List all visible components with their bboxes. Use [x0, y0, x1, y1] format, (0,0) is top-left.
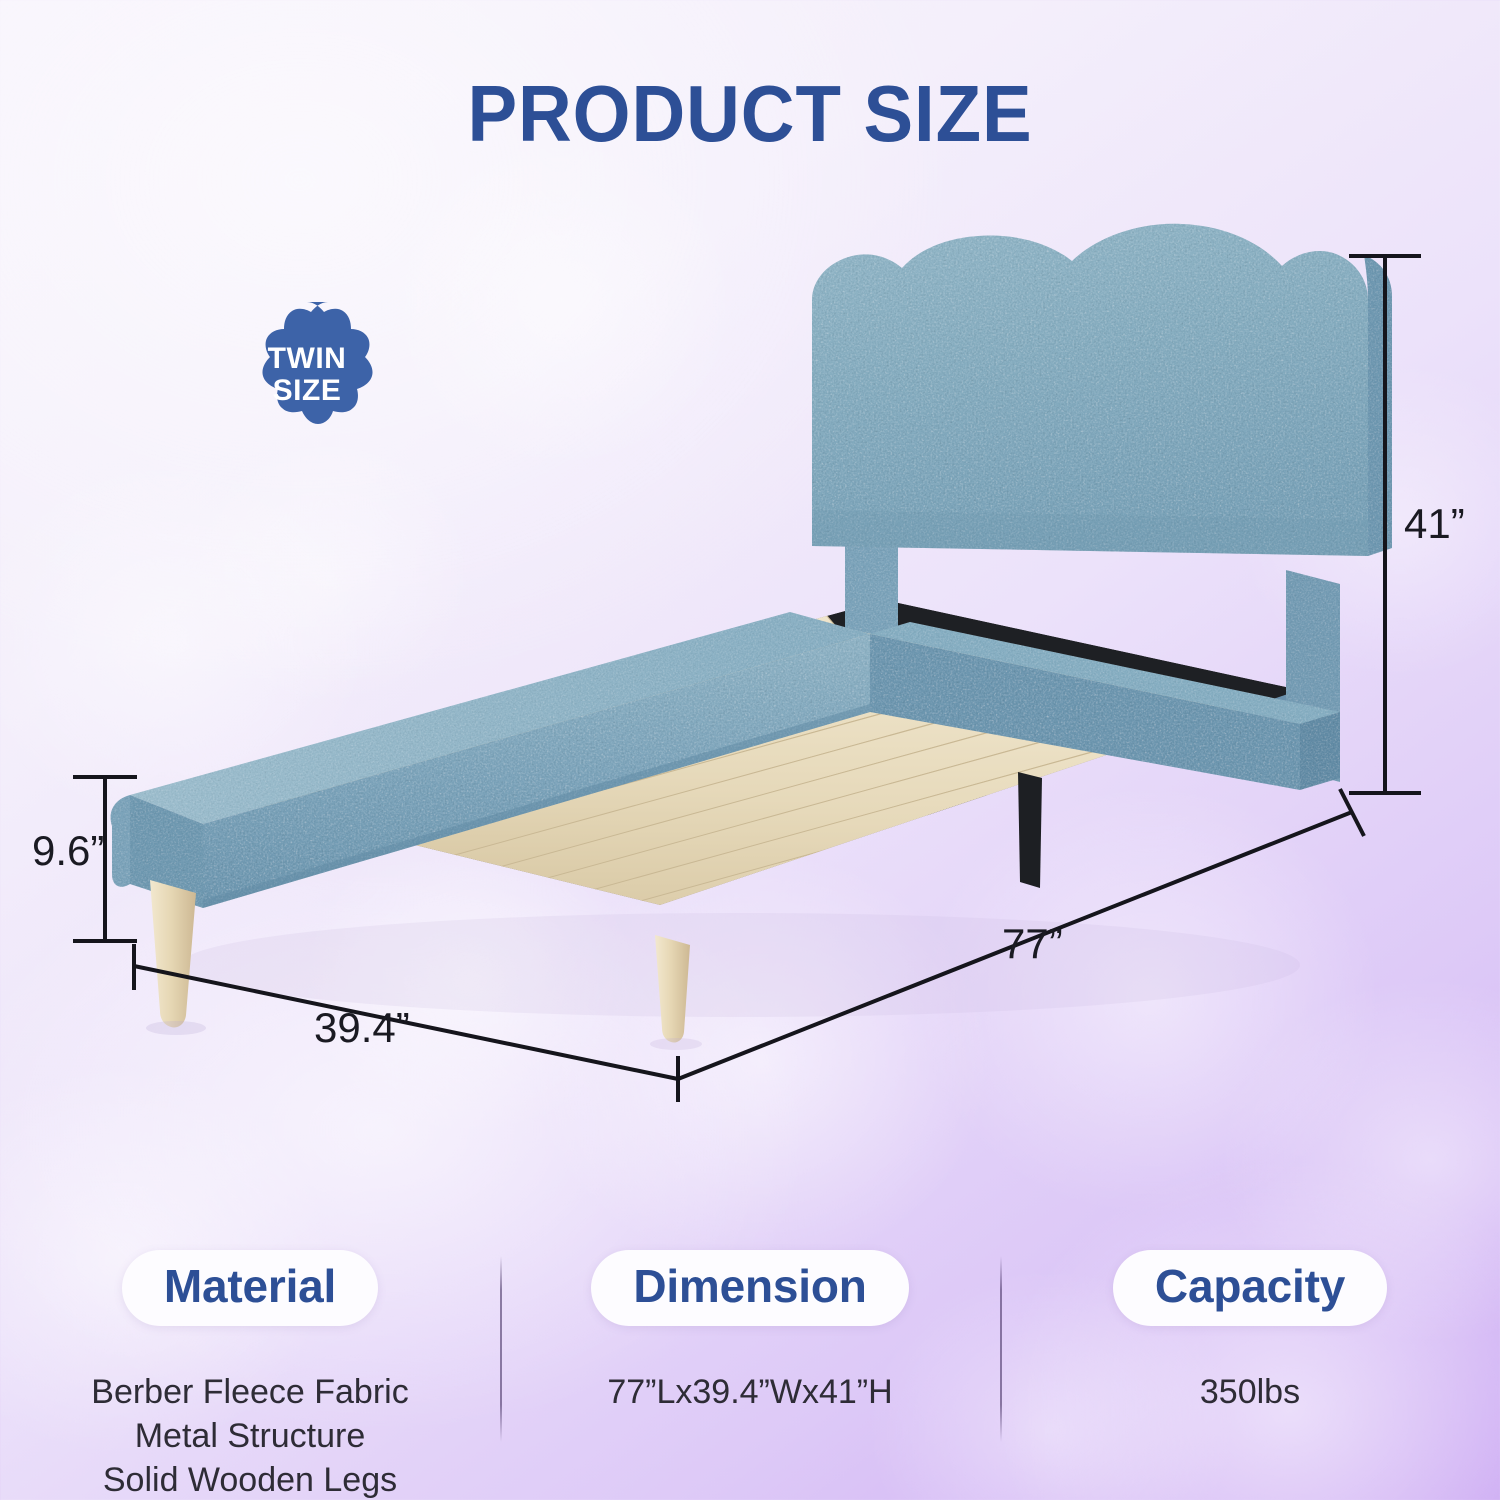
info-body-dimension: 77”Lx39.4”Wx41”H: [607, 1370, 892, 1414]
info-heading-capacity: Capacity: [1113, 1250, 1387, 1326]
info-body-material: Berber Fleece Fabric Metal Structure Sol…: [91, 1370, 408, 1500]
dimension-label-length: 77”: [1002, 920, 1063, 968]
info-column-dimension: Dimension 77”Lx39.4”Wx41”H: [500, 1244, 1000, 1500]
info-heading-material: Material: [122, 1250, 378, 1326]
info-line: Berber Fleece Fabric: [91, 1370, 408, 1414]
dimension-label-clearance: 9.6”: [32, 827, 104, 875]
dimension-label-height: 41”: [1404, 500, 1465, 548]
info-heading-dimension: Dimension: [591, 1250, 908, 1326]
info-column-material: Material Berber Fleece Fabric Metal Stru…: [0, 1244, 500, 1500]
dimension-label-width: 39.4”: [314, 1004, 410, 1052]
info-line: 77”Lx39.4”Wx41”H: [607, 1370, 892, 1414]
info-line: 350lbs: [1200, 1370, 1300, 1414]
info-column-capacity: Capacity 350lbs: [1000, 1244, 1500, 1500]
info-body-capacity: 350lbs: [1200, 1370, 1300, 1414]
info-strip: Material Berber Fleece Fabric Metal Stru…: [0, 1244, 1500, 1500]
info-line: Metal Structure: [91, 1414, 408, 1458]
info-line: Solid Wooden Legs: [91, 1458, 408, 1500]
